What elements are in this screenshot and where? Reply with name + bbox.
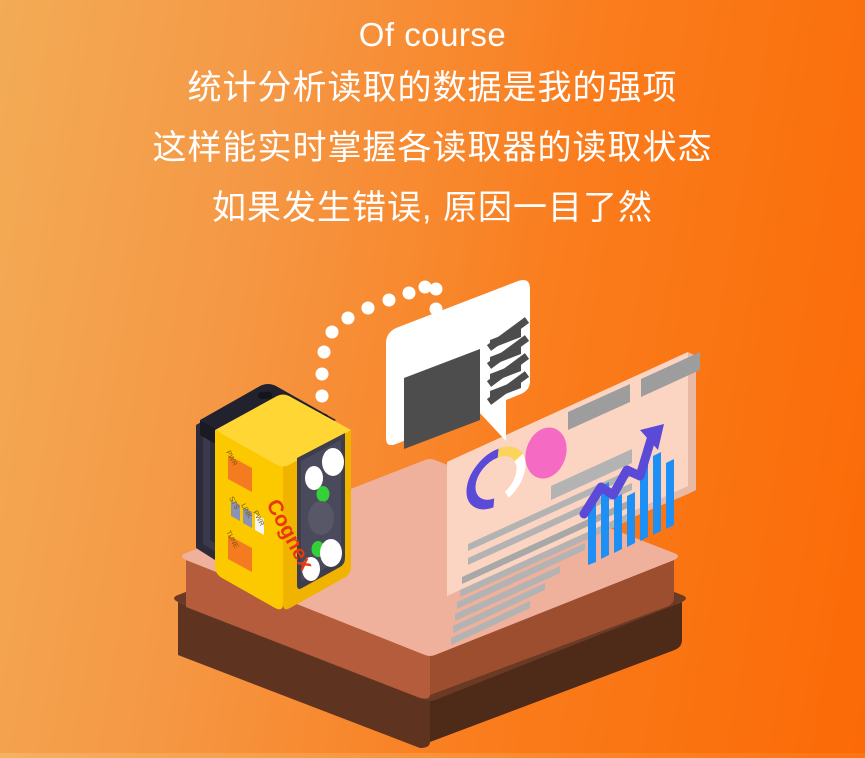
headline-line-1: 统计分析读取的数据是我的强项 (0, 71, 865, 105)
headline-block: Of course 统计分析读取的数据是我的强项 这样能实时掌握各读取器的读取状… (0, 18, 865, 225)
cognex-barcode-reader: PWR TUNE STS LINK PWR Cognex (196, 384, 351, 609)
headline-english: Of course (0, 18, 865, 51)
poster-canvas: PWR TUNE STS LINK PWR Cognex Of course 统… (0, 0, 865, 758)
headline-line-3: 如果发生错误, 原因一目了然 (0, 191, 865, 225)
headline-line-2: 这样能实时掌握各读取器的读取状态 (0, 131, 865, 165)
speech-bubble (386, 280, 530, 449)
